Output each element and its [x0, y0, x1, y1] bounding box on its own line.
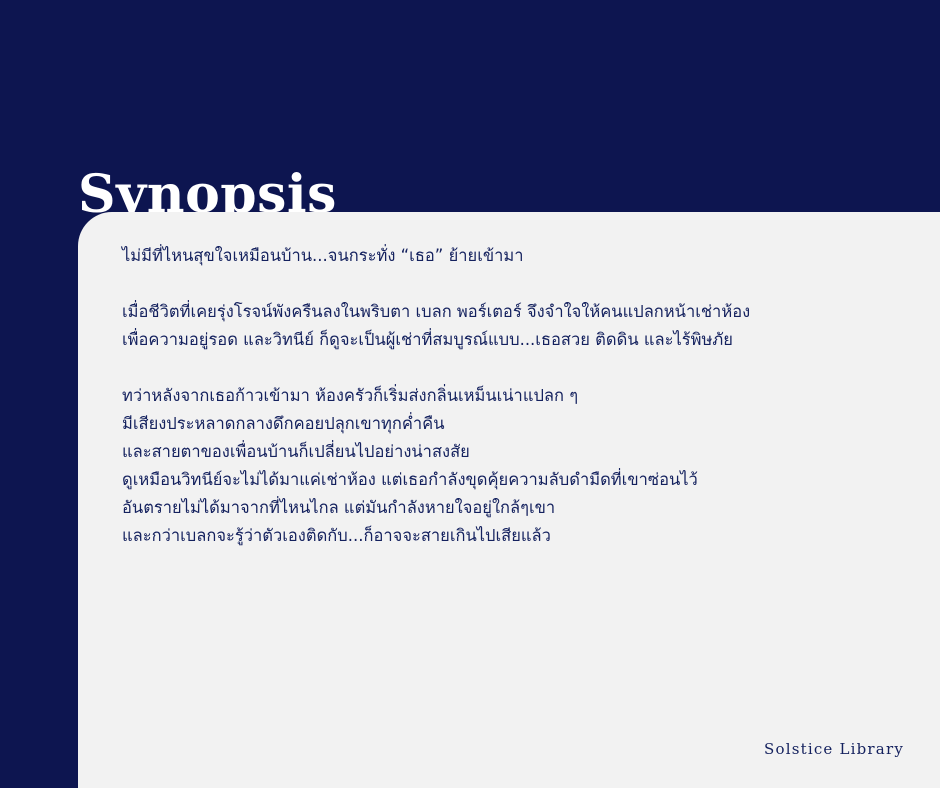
slide-root: Synopsis ไม่มีที่ไหนสุขใจเหมือนบ้าน...จน…: [0, 0, 940, 788]
footer-brand: Solstice Library: [764, 740, 904, 758]
synopsis-line: ไม่มีที่ไหนสุขใจเหมือนบ้าน...จนกระทั่ง “…: [122, 242, 904, 270]
synopsis-line: ดูเหมือนวิทนีย์จะไม่ได้มาแค่เช่าห้อง แต่…: [122, 466, 904, 494]
synopsis-line: อันตรายไม่ได้มาจากที่ไหนไกล แต่มันกำลังห…: [122, 494, 904, 522]
synopsis-line: และสายตาของเพื่อนบ้านก็เปลี่ยนไปอย่างน่า…: [122, 438, 904, 466]
synopsis-line: เพื่อความอยู่รอด และวิทนีย์ ก็ดูจะเป็นผู…: [122, 326, 904, 354]
synopsis-line: ทว่าหลังจากเธอก้าวเข้ามา ห้องครัวก็เริ่ม…: [122, 382, 904, 410]
synopsis-line: เมื่อชีวิตที่เคยรุ่งโรจน์พังครืนลงในพริบ…: [122, 298, 904, 326]
synopsis-card: ไม่มีที่ไหนสุขใจเหมือนบ้าน...จนกระทั่ง “…: [78, 212, 940, 788]
synopsis-line: และกว่าเบลกจะรู้ว่าตัวเองติดกับ...ก็อาจจ…: [122, 522, 904, 550]
synopsis-paragraph: เมื่อชีวิตที่เคยรุ่งโรจน์พังครืนลงในพริบ…: [122, 298, 904, 354]
synopsis-paragraph: ไม่มีที่ไหนสุขใจเหมือนบ้าน...จนกระทั่ง “…: [122, 242, 904, 270]
synopsis-body: ไม่มีที่ไหนสุขใจเหมือนบ้าน...จนกระทั่ง “…: [122, 242, 904, 550]
synopsis-paragraph: ทว่าหลังจากเธอก้าวเข้ามา ห้องครัวก็เริ่ม…: [122, 382, 904, 550]
synopsis-line: มีเสียงประหลาดกลางดึกคอยปลุกเขาทุกค่ำคืน: [122, 410, 904, 438]
